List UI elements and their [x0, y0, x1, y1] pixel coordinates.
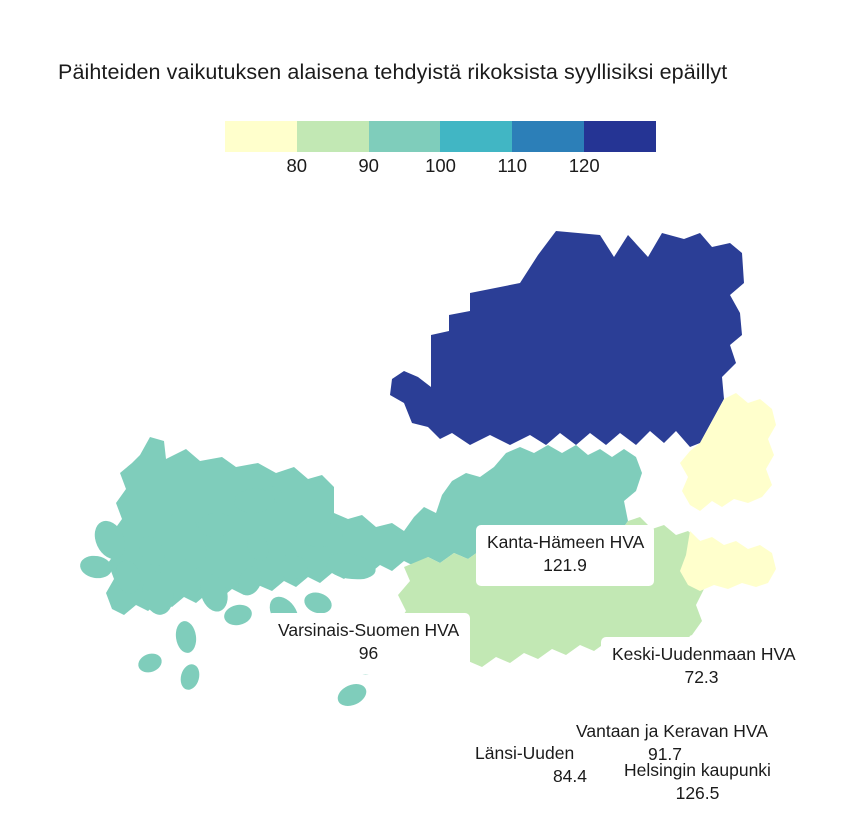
map-label-name: Keski-Uudenmaan HVA	[612, 643, 791, 666]
legend-band-2	[369, 121, 441, 152]
map-label-name: Varsinais-Suomen HVA	[278, 619, 459, 642]
map-label-value: 72.3	[612, 666, 791, 689]
legend-band-1	[297, 121, 369, 152]
map-label-value: 96	[278, 642, 459, 665]
legend-band-4	[512, 121, 584, 152]
map-label-helsingin-kaupunki[interactable]: Helsingin kaupunki 126.5	[605, 753, 790, 814]
map-label-value: 84.4	[475, 765, 591, 788]
legend-tick-labels: 80 90 100 110 120	[225, 155, 656, 181]
legend-band-3	[440, 121, 512, 152]
map-canvas: Kanta-Hämeen HVA 121.9 Varsinais-Suomen …	[0, 195, 864, 792]
map-label-value: 126.5	[616, 782, 779, 805]
legend-tick-110: 110	[498, 155, 528, 177]
map-label-name: Vantaan ja Keravan HVA	[576, 720, 754, 743]
map-label-varsinais-suomen[interactable]: Varsinais-Suomen HVA 96	[267, 613, 470, 674]
map-label-value: 121.9	[487, 554, 643, 577]
legend-tick-100: 100	[425, 155, 456, 177]
legend-tick-120: 120	[569, 155, 600, 177]
map-label-name: Kanta-Hämeen HVA	[487, 531, 643, 554]
map-region-kanta-hameen[interactable]	[390, 231, 744, 447]
choropleth-chart: Päihteiden vaikutuksen alaisena tehdyist…	[0, 0, 864, 792]
map-label-keski-uudenmaan[interactable]: Keski-Uudenmaan HVA 72.3	[601, 637, 802, 698]
legend-tick-90: 90	[358, 155, 379, 177]
map-regions-svg	[0, 195, 864, 792]
map-label-name: Helsingin kaupunki	[616, 759, 779, 782]
color-scale-legend: 80 90 100 110 120	[225, 121, 656, 152]
legend-tick-80: 80	[287, 155, 308, 177]
legend-band-0	[225, 121, 297, 152]
legend-color-bands	[225, 121, 656, 152]
chart-title: Päihteiden vaikutuksen alaisena tehdyist…	[58, 60, 818, 85]
legend-band-5	[584, 121, 656, 152]
map-label-kanta-hameen[interactable]: Kanta-Hämeen HVA 121.9	[476, 525, 654, 586]
